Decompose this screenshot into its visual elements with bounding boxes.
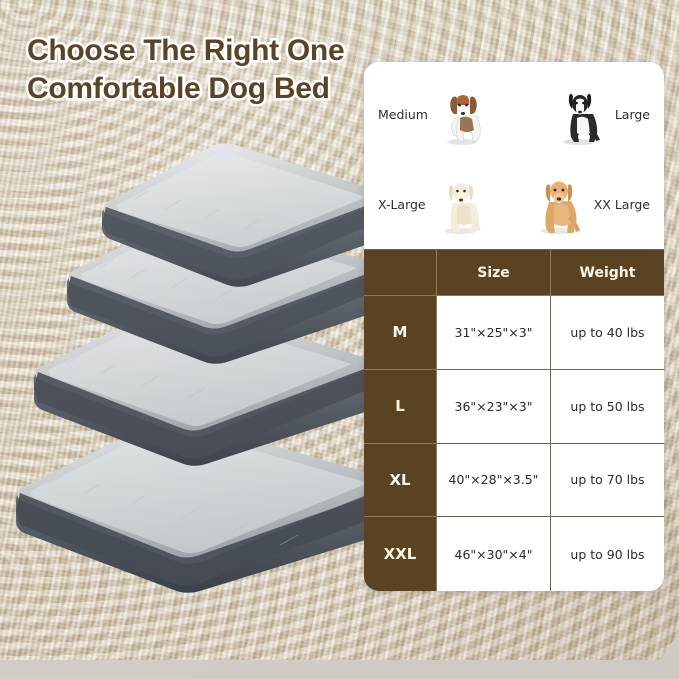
row-size-label: XXL xyxy=(364,517,437,591)
row-weight: up to 50 lbs xyxy=(551,370,664,444)
table-header-row: Size Weight xyxy=(364,250,664,296)
headline-line-2: Comfortable Dog Bed xyxy=(27,70,367,108)
row-size-label: XL xyxy=(364,444,437,518)
row-dimensions: 36"×23"×3" xyxy=(437,370,551,444)
golden-retriever-dog-icon xyxy=(532,173,584,235)
row-weight: up to 40 lbs xyxy=(551,296,664,370)
header-cell-blank xyxy=(364,250,437,296)
table-row: M 31"×25"×3" up to 40 lbs xyxy=(364,296,664,370)
row-weight: up to 90 lbs xyxy=(551,517,664,591)
dog-entry-xlarge: X-Large xyxy=(368,160,514,250)
dog-bed-m xyxy=(82,115,392,300)
dog-label-xxlarge: XX Large xyxy=(594,197,650,212)
size-guide-card: Medium xyxy=(364,62,664,591)
page-title: Choose The Right One Comfortable Dog Bed xyxy=(27,32,367,108)
row-dimensions: 46"×30"×4" xyxy=(437,517,551,591)
row-size-label: M xyxy=(364,296,437,370)
headline-line-1: Choose The Right One xyxy=(27,34,344,67)
dog-entry-large: Large xyxy=(514,70,660,160)
header-cell-weight: Weight xyxy=(551,250,664,296)
dog-label-xlarge: X-Large xyxy=(378,197,426,212)
beagle-dog-icon xyxy=(436,84,488,146)
dog-entry-xxlarge: XX Large xyxy=(514,160,660,250)
dog-label-medium: Medium xyxy=(378,107,428,122)
table-row: L 36"×23"×3" up to 50 lbs xyxy=(364,370,664,444)
row-weight: up to 70 lbs xyxy=(551,444,664,518)
product-photo-dog-bed-stack xyxy=(0,170,400,630)
size-specification-table: Size Weight M 31"×25"×3" up to 40 lbs L … xyxy=(364,249,664,591)
table-row: XXL 46"×30"×4" up to 90 lbs xyxy=(364,517,664,591)
header-cell-size: Size xyxy=(437,250,551,296)
row-dimensions: 31"×25"×3" xyxy=(437,296,551,370)
row-dimensions: 40"×28"×3.5" xyxy=(437,444,551,518)
table-row: XL 40"×28"×3.5" up to 70 lbs xyxy=(364,444,664,518)
yellow-labrador-dog-icon xyxy=(434,173,486,235)
dog-entry-medium: Medium xyxy=(368,70,514,160)
dog-label-large: Large xyxy=(615,107,650,122)
row-size-label: L xyxy=(364,370,437,444)
border-collie-dog-icon xyxy=(553,84,605,146)
dog-size-illustrations: Medium xyxy=(364,62,664,249)
infographic-canvas: Choose The Right One Comfortable Dog Bed… xyxy=(0,0,679,679)
